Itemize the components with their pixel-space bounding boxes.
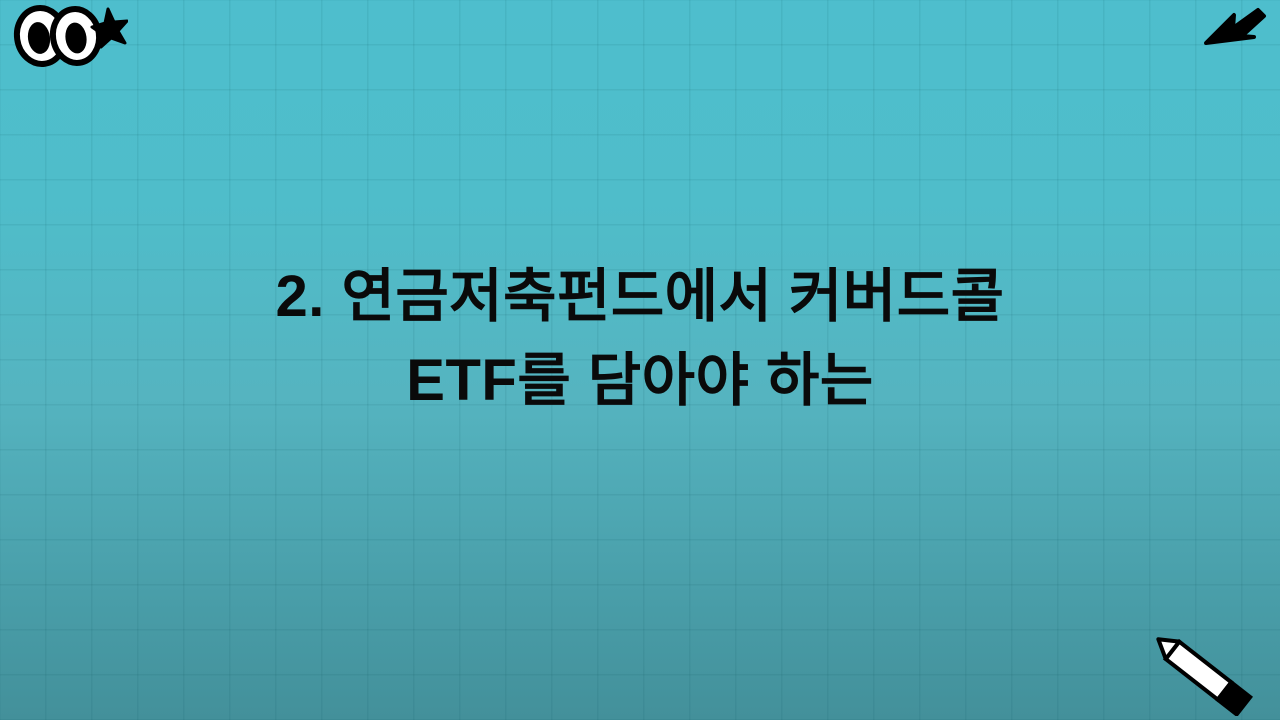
page-title: 2. 연금저축펀드에서 커버드콜 ETF를 담아야 하는: [0, 255, 1280, 423]
headline-line-1: 2. 연금저축펀드에서 커버드콜: [276, 255, 1005, 339]
arrow-icon: [1200, 2, 1270, 58]
headline-line-2: ETF를 담아야 하는: [406, 339, 873, 423]
eyes-icon: [13, 5, 102, 67]
pencil-icon: [1142, 636, 1272, 716]
title-card-canvas: 2. 연금저축펀드에서 커버드콜 ETF를 담아야 하는: [0, 0, 1280, 720]
eyes-star-logo: [8, 2, 128, 72]
